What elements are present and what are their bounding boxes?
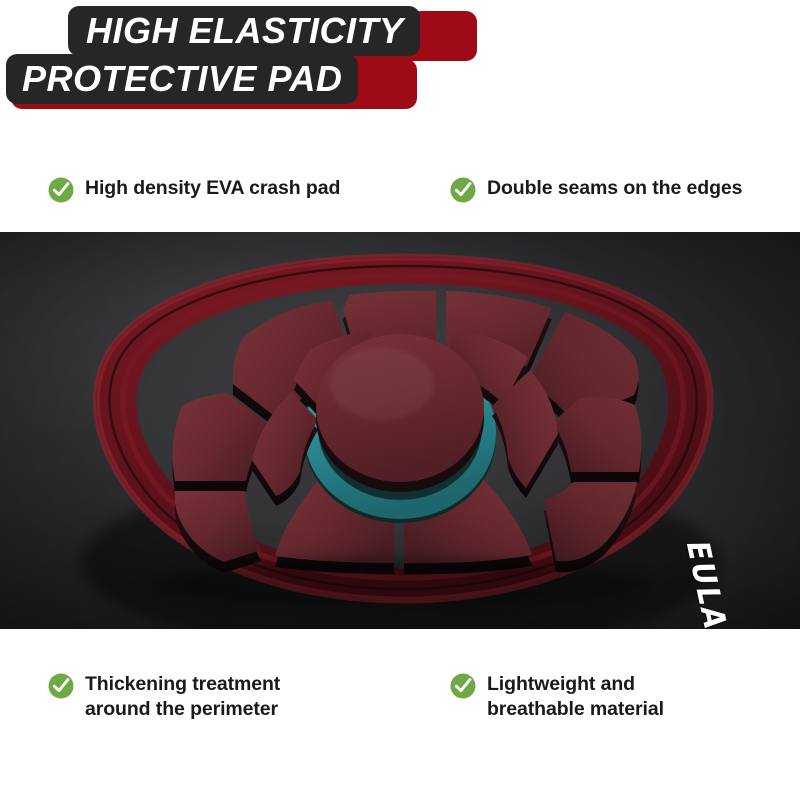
- protective-pad-illustration: [0, 232, 800, 629]
- center-eva-disc: [316, 334, 484, 492]
- feature-text: High density EVA crash pad: [85, 176, 340, 201]
- feature-text: Thickening treatment around the perimete…: [85, 672, 280, 722]
- title-line-2: PROTECTIVE PAD: [22, 54, 342, 104]
- feature-list-bottom: Thickening treatment around the perimete…: [0, 672, 800, 742]
- feature-line-1: High density EVA crash pad: [85, 177, 340, 199]
- check-circle-icon: [450, 673, 476, 699]
- feature-line-1: Double seams on the edges: [487, 177, 742, 199]
- check-circle-icon: [48, 673, 74, 699]
- feature-line-1: Thickening treatment: [85, 673, 280, 695]
- title-line-1: HIGH ELASTICITY: [86, 6, 404, 56]
- check-circle-icon: [48, 177, 74, 203]
- feature-item-thickening-treatment: Thickening treatment around the perimete…: [0, 672, 400, 742]
- feature-line-2: breathable material: [487, 697, 664, 722]
- title-banner-2: PROTECTIVE PAD: [6, 54, 358, 104]
- feature-line-2: around the perimeter: [85, 697, 280, 722]
- feature-list-top: High density EVA crash pad Double seams …: [0, 176, 800, 232]
- product-photo: EULANT: [0, 232, 800, 629]
- title-block: HIGH ELASTICITY PROTECTIVE PAD: [0, 0, 800, 120]
- feature-item-high-density-eva: High density EVA crash pad: [0, 176, 400, 232]
- feature-item-lightweight-breathable: Lightweight and breathable material: [400, 672, 800, 742]
- feature-text: Lightweight and breathable material: [487, 672, 664, 722]
- feature-line-1: Lightweight and: [487, 673, 635, 695]
- product-feature-image: HIGH ELASTICITY PROTECTIVE PAD High dens…: [0, 0, 800, 800]
- check-circle-icon: [450, 177, 476, 203]
- feature-text: Double seams on the edges: [487, 176, 742, 201]
- feature-item-double-seams: Double seams on the edges: [400, 176, 800, 232]
- title-banner-1: HIGH ELASTICITY: [68, 6, 420, 56]
